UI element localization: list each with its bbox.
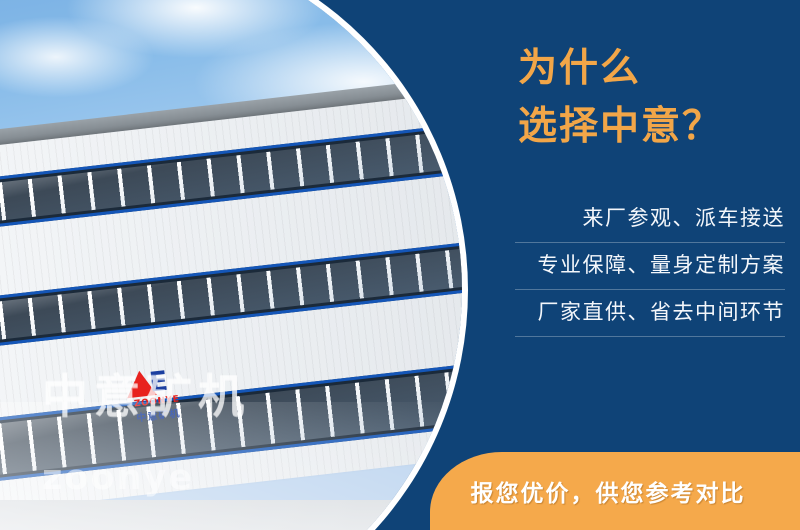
promo-banner: E ZOONYE 中意矿机	[0, 0, 800, 530]
headline-line-2: 选择中意？	[518, 98, 768, 156]
headline: 为什么 选择中意？	[518, 40, 768, 155]
price-offer-ribbon: 报您优价，供您参考对比	[430, 452, 800, 530]
factory-photo: E ZOONYE 中意矿机	[0, 0, 462, 530]
list-item: 来厂参观、派车接送	[515, 196, 785, 243]
factory-photo-circle: E ZOONYE 中意矿机	[0, 0, 462, 530]
right-text-column: 为什么 选择中意？ 来厂参观、派车接送 专业保障、量身定制方案 厂家直供、省去中…	[470, 0, 800, 530]
headline-line-1: 为什么	[518, 46, 641, 91]
price-offer-label: 报您优价，供您参考对比	[430, 474, 786, 508]
logo-letter-e: E	[146, 368, 171, 395]
list-item: 专业保障、量身定制方案	[515, 243, 785, 290]
photo-white-fade	[0, 402, 462, 530]
benefit-list: 来厂参观、派车接送 专业保障、量身定制方案 厂家直供、省去中间环节	[515, 196, 785, 337]
list-item: 厂家直供、省去中间环节	[515, 290, 785, 337]
